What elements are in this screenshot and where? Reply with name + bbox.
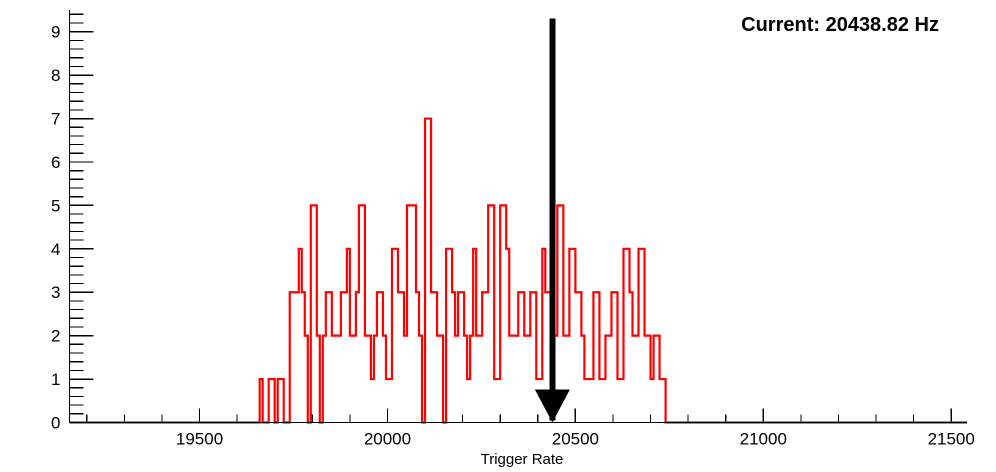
y-tick-label: 2 — [51, 327, 60, 346]
current-rate-title: Current: 20438.82 Hz — [741, 14, 939, 36]
x-tick-label: 20000 — [364, 430, 411, 449]
y-tick-label: 5 — [51, 196, 60, 215]
x-tick-label: 19500 — [176, 430, 223, 449]
y-tick-label: 4 — [51, 240, 60, 259]
x-axis-title: Trigger Rate — [481, 451, 564, 468]
y-tick-label: 6 — [51, 153, 60, 172]
x-tick-label: 21500 — [928, 430, 975, 449]
y-tick-label: 1 — [51, 370, 60, 389]
x-tick-label: 21000 — [740, 430, 787, 449]
y-tick-label: 8 — [51, 66, 60, 85]
y-tick-label: 0 — [51, 414, 60, 433]
trigger-rate-histogram-plot: 0123456789 1950020000205002100021500 Cur… — [0, 0, 996, 472]
y-tick-label: 3 — [51, 283, 60, 302]
root-canvas: 0123456789 1950020000205002100021500 Cur… — [0, 0, 996, 472]
y-tick-label: 7 — [51, 110, 60, 129]
x-tick-label: 20500 — [552, 430, 599, 449]
y-tick-label: 9 — [51, 23, 60, 42]
plot-background — [0, 0, 996, 472]
